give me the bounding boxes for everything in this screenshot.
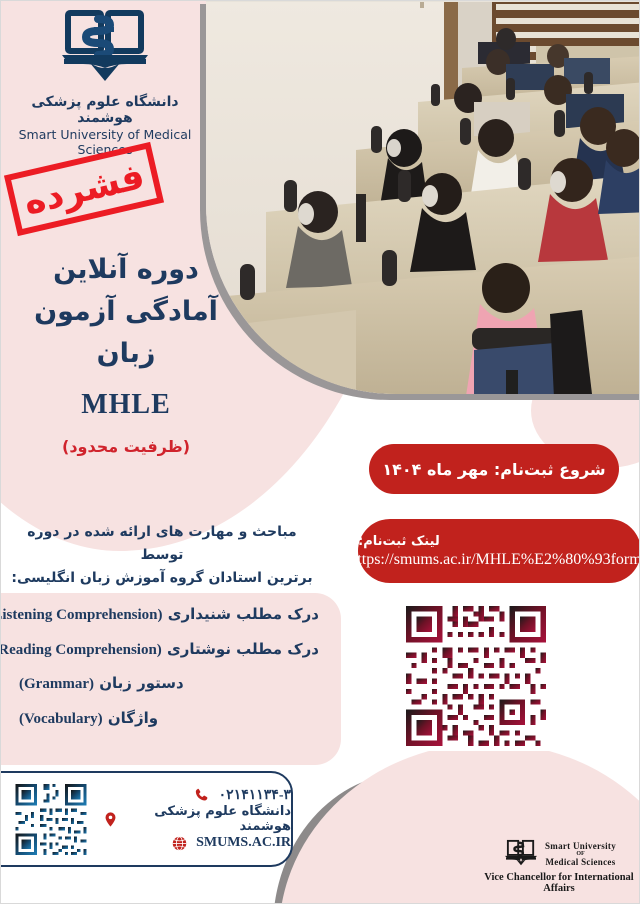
skill-item: دستور زبان (Grammar) bbox=[19, 675, 319, 693]
skill-label-fa: واژگان bbox=[108, 709, 158, 727]
headline-line-1: دوره آنلاین bbox=[1, 249, 251, 291]
poster-headline: دوره آنلاین آمادگی آزمون زبان MHLE (ظرفی… bbox=[1, 249, 251, 456]
registration-link-pill[interactable]: لینک ثبت‌نام: https://smums.ac.ir/MHLE%E… bbox=[358, 519, 640, 583]
skill-item: درک مطلب نوشتاری (Reading Comprehension) bbox=[19, 641, 319, 659]
description-line-2: برترین استادان گروه آموزش زبان انگلیسی: bbox=[7, 567, 317, 590]
skill-label-fa: درک مطلب نوشتاری bbox=[167, 640, 319, 658]
logo-bottom-subtitle: Vice Chancellor for International Affair… bbox=[481, 872, 637, 894]
skill-label-fa: دستور زبان bbox=[99, 674, 184, 692]
phone-icon bbox=[193, 786, 211, 804]
logo-bottom-word-2: Medical Sciences bbox=[545, 857, 616, 867]
registration-date-label: شروع ثبت‌نام: مهر ماه ۱۴۰۴ bbox=[382, 460, 605, 479]
skill-item: درک مطلب شنیداری (Listening Comprehensio… bbox=[19, 606, 319, 624]
skill-label-en: (Grammar) bbox=[19, 676, 94, 692]
location-pin-icon bbox=[101, 810, 119, 828]
course-description: مباحث و مهارت های ارائه شده در دوره توسط… bbox=[7, 521, 317, 590]
contact-details: ۰۲۱۴۱۱۳۴-۳ دانشگاه علوم پزشکی هوشمند bbox=[101, 783, 291, 855]
skill-label-en: (Listening Comprehension) bbox=[0, 607, 163, 623]
contact-row-address: دانشگاه علوم پزشکی هوشمند bbox=[101, 807, 291, 831]
headline-exam-name: MHLE bbox=[1, 389, 251, 421]
headline-line-2: آمادگی آزمون زبان bbox=[1, 291, 251, 375]
registration-link-label: لینک ثبت‌نام: bbox=[358, 534, 450, 549]
qr-code-registration[interactable] bbox=[401, 601, 551, 751]
logo-bottom-word-1: Smart University bbox=[545, 841, 616, 851]
laptop-book-caduceus-icon bbox=[502, 839, 540, 869]
vice-chancellor-logo: Smart University OF Medical Sciences Vic… bbox=[481, 839, 637, 894]
university-logo-top: دانشگاه علوم پزشکی هوشمند Smart Universi… bbox=[9, 9, 201, 157]
skill-item: واژگان (Vocabulary) bbox=[19, 710, 319, 728]
registration-date-pill: شروع ثبت‌نام: مهر ماه ۱۴۰۴ bbox=[369, 444, 619, 494]
globe-icon bbox=[170, 834, 188, 852]
contact-phone-value: ۰۲۱۴۱۱۳۴-۳ bbox=[219, 787, 291, 804]
registration-url[interactable]: https://smums.ac.ir/MHLE%E2%80%93form bbox=[349, 551, 640, 569]
skill-label-en: (Reading Comprehension) bbox=[0, 642, 162, 658]
skills-list: درک مطلب شنیداری (Listening Comprehensio… bbox=[19, 606, 319, 744]
qr-code-website[interactable] bbox=[11, 781, 91, 858]
contact-row-website[interactable]: SMUMS.AC.IR bbox=[101, 831, 291, 855]
language-lab-photo bbox=[206, 0, 640, 394]
skill-label-en: (Vocabulary) bbox=[19, 711, 103, 727]
poster-canvas: دانشگاه علوم پزشکی هوشمند Smart Universi… bbox=[0, 0, 640, 904]
skill-label-fa: درک مطلب شنیداری bbox=[168, 605, 319, 623]
headline-capacity-note: (ظرفیت محدود) bbox=[1, 437, 251, 456]
contact-website-value[interactable]: SMUMS.AC.IR bbox=[196, 835, 291, 851]
laptop-book-caduceus-icon bbox=[50, 9, 160, 91]
university-name-fa: دانشگاه علوم پزشکی هوشمند bbox=[9, 94, 201, 126]
description-line-1: مباحث و مهارت های ارائه شده در دوره توسط bbox=[7, 521, 317, 567]
contact-address-value: دانشگاه علوم پزشکی هوشمند bbox=[127, 804, 291, 834]
